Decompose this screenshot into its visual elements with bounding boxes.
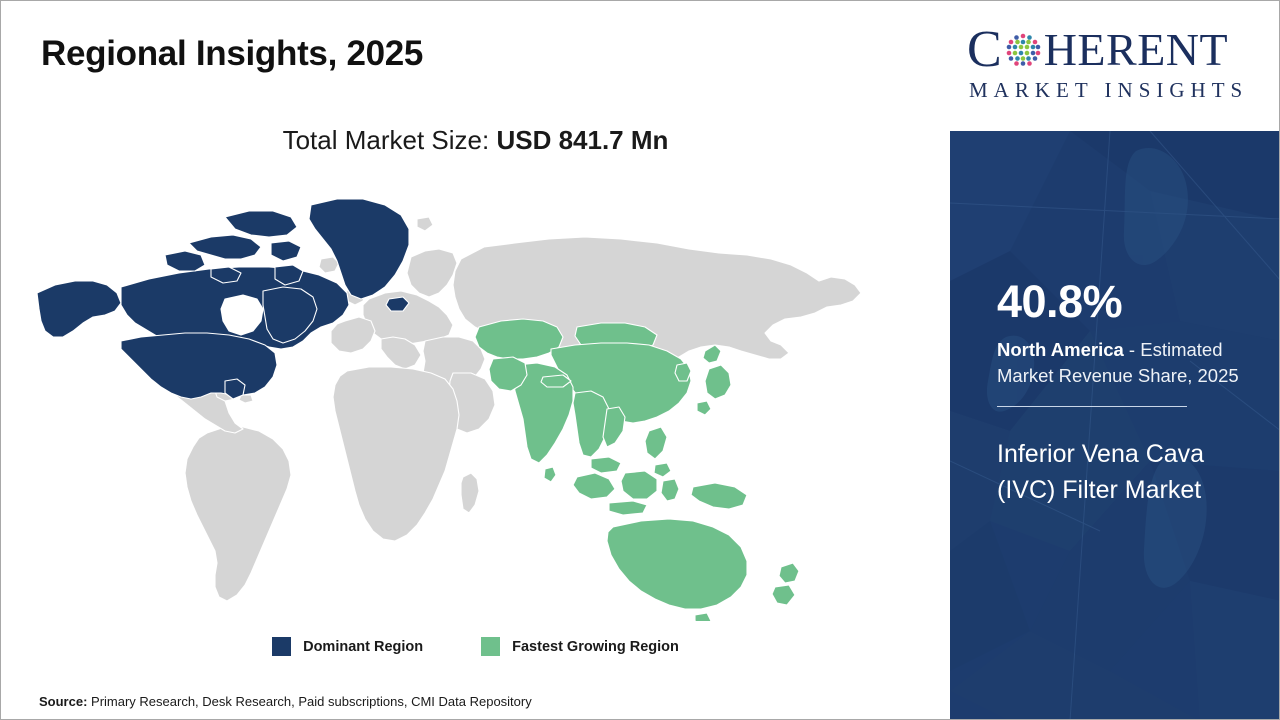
source-text: Primary Research, Desk Research, Paid su… <box>87 694 531 709</box>
market-size-label: Total Market Size: <box>283 125 497 155</box>
source-label: Source: <box>39 694 87 709</box>
legend-swatch-fastest-growing <box>481 637 500 656</box>
logo-tagline: MARKET INSIGHTS <box>969 78 1265 103</box>
infographic-page: Regional Insights, 2025 Total Market Siz… <box>0 0 1280 720</box>
map-legend: Dominant Region Fastest Growing Region <box>1 637 950 656</box>
legend-item-fastest-growing[interactable]: Fastest Growing Region <box>481 637 679 656</box>
page-title: Regional Insights, 2025 <box>41 34 423 74</box>
world-map[interactable] <box>29 181 909 621</box>
source-note: Source: Primary Research, Desk Research,… <box>39 694 532 709</box>
market-name: Inferior Vena Cava (IVC) Filter Market <box>997 437 1265 508</box>
legend-swatch-dominant <box>272 637 291 656</box>
stat-percentage: 40.8% <box>997 279 1265 324</box>
brand-logo[interactable]: C <box>950 1 1280 131</box>
world-map-svg <box>29 181 909 621</box>
legend-label-fastest-growing: Fastest Growing Region <box>512 639 679 655</box>
stat-panel: 40.8% North America - Estimated Market R… <box>950 131 1280 720</box>
stat-region-name: North America <box>997 339 1124 360</box>
stat-divider-line <box>997 406 1187 407</box>
legend-label-dominant: Dominant Region <box>303 639 423 655</box>
logo-letter-c: C <box>967 24 1002 76</box>
market-size-value: USD 841.7 Mn <box>496 125 668 155</box>
total-market-size: Total Market Size: USD 841.7 Mn <box>1 125 950 156</box>
logo-wordmark: HERENT <box>1044 27 1228 73</box>
map-region-asia-pacific[interactable] <box>475 319 799 621</box>
right-side-panel: C <box>950 1 1280 720</box>
legend-item-dominant[interactable]: Dominant Region <box>272 637 423 656</box>
stat-caption: North America - Estimated Market Revenue… <box>997 337 1265 388</box>
left-content-panel: Regional Insights, 2025 Total Market Siz… <box>1 1 950 720</box>
globe-dots-icon <box>1003 30 1043 70</box>
